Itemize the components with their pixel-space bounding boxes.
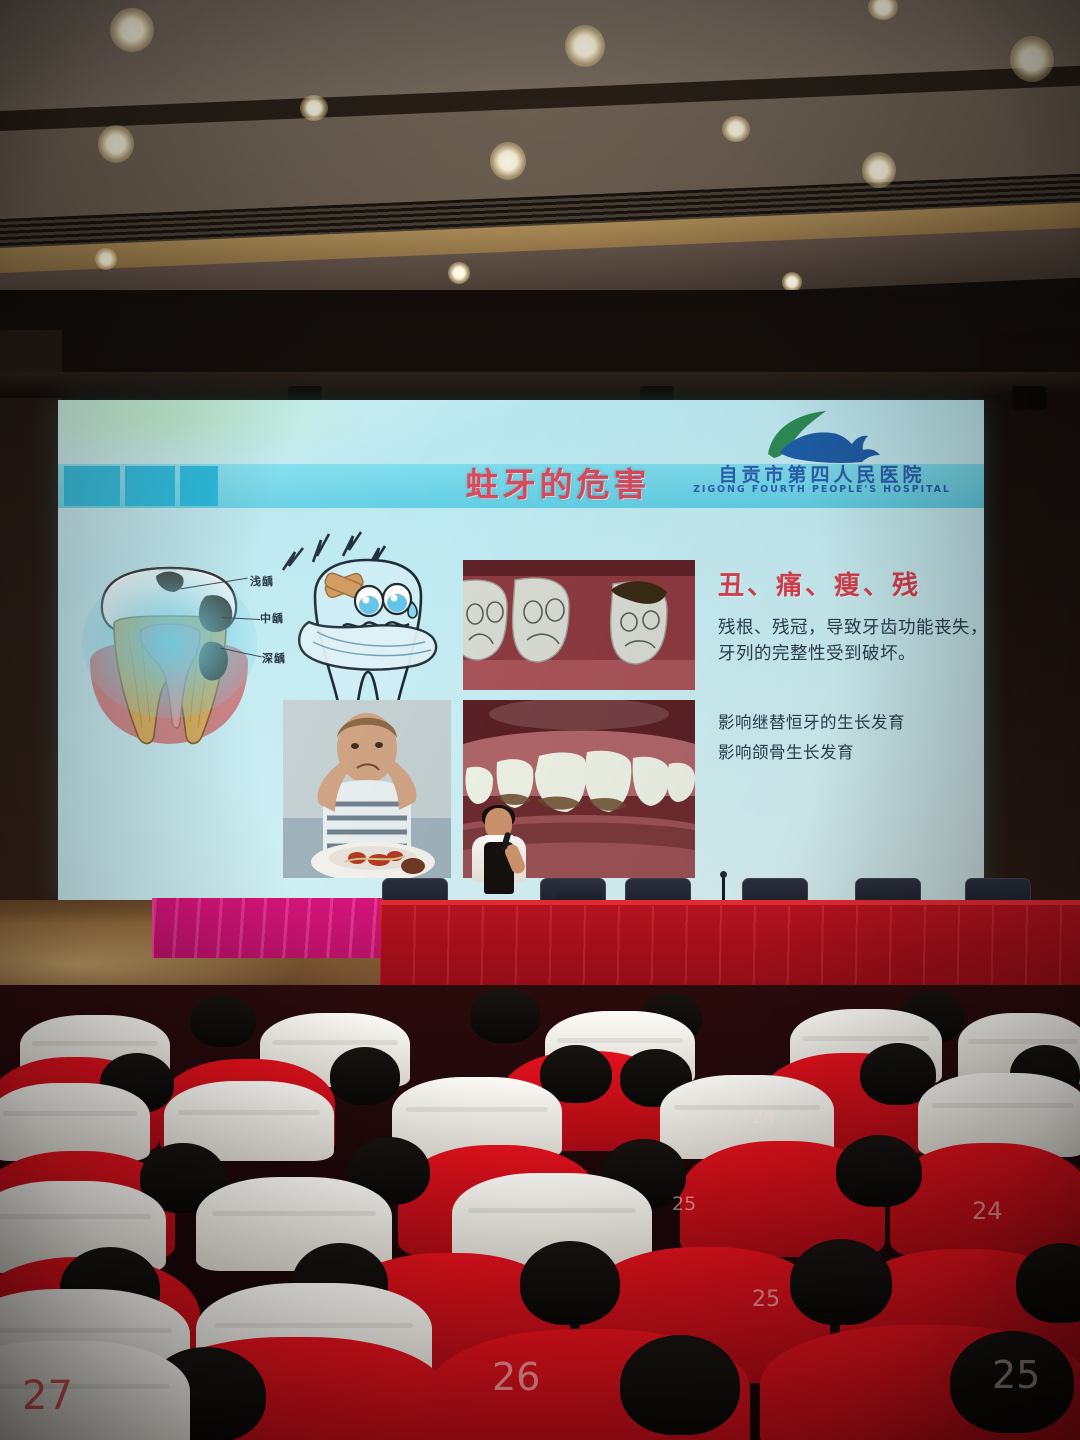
downlight-icon	[98, 125, 134, 163]
projector-glow	[58, 400, 378, 470]
slide-text-column: 丑、痛、瘦、残 残根、残冠，导致牙齿功能丧失，牙列的完整性受到破坏。 影响继替恒…	[718, 565, 984, 769]
seat-number: 27	[22, 1373, 73, 1419]
downlight-icon	[300, 95, 328, 121]
seat-number: 25	[992, 1353, 1040, 1397]
audience-head	[470, 989, 540, 1043]
title-accent-block-3	[180, 466, 218, 506]
audience-head	[520, 1241, 620, 1325]
downlight-icon	[490, 142, 526, 180]
auditorium-scene: 蛀牙的危害 自贡市第四人民医院 ZIGONG FOURTH PEOPLE'S H…	[0, 0, 1080, 1440]
downlight-icon	[782, 272, 802, 292]
downlight-icon	[862, 152, 896, 188]
photo-teeth-model-sad-faces	[463, 560, 695, 690]
label-shallow-caries: 浅龋	[250, 573, 274, 589]
audience-seating: 24 25 24 25 27 26	[0, 985, 1080, 1440]
seat-number: 24	[752, 1107, 775, 1128]
title-accent-block-1	[64, 466, 120, 506]
text-headline: 丑、痛、瘦、残	[718, 565, 984, 602]
downlight-icon	[565, 25, 605, 67]
audience-head	[190, 995, 256, 1047]
text-bullets: 影响继替恒牙的生长发育 影响颌骨生长发育	[718, 708, 984, 769]
child-photo-svg	[283, 700, 451, 878]
screen-mount-rail	[0, 372, 1080, 398]
audience-head	[790, 1239, 892, 1325]
hospital-logo-mark	[676, 408, 966, 464]
audience-head	[836, 1135, 922, 1207]
hospital-logo: 自贡市第四人民医院 ZIGONG FOURTH PEOPLE'S HOSPITA…	[676, 408, 966, 504]
title-accent-block-2	[125, 466, 175, 506]
seat-number: 26	[492, 1355, 540, 1399]
audience-head	[620, 1335, 740, 1435]
downlight-icon	[448, 262, 470, 284]
seat-cover	[0, 1083, 150, 1161]
hospital-name-en: ZIGONG FOURTH PEOPLE'S HOSPITAL	[682, 484, 962, 495]
downlight-icon	[95, 248, 117, 270]
seat-number: 25	[672, 1193, 696, 1215]
downlight-icon	[1010, 36, 1054, 82]
screen-clip	[1012, 386, 1046, 410]
seat-number: 24	[972, 1197, 1003, 1225]
downlight-icon	[110, 8, 154, 52]
audience-head	[330, 1047, 400, 1105]
diagram-halo	[82, 568, 257, 718]
photo-unhappy-child	[283, 700, 451, 878]
presenter-speaker	[470, 808, 528, 912]
text-bullet-2: 影响颌骨生长发育	[718, 738, 984, 769]
stage-front-skirt-panel	[152, 898, 387, 958]
text-bullet-1: 影响继替恒牙的生长发育	[718, 708, 984, 739]
hospital-name-cn: 自贡市第四人民医院	[682, 460, 962, 487]
ceiling	[0, 0, 1080, 300]
text-paragraph: 残根、残冠，导致牙齿功能丧失，牙列的完整性受到破坏。	[718, 615, 984, 668]
seat-number: 25	[752, 1287, 780, 1312]
wall-left-column	[0, 330, 62, 910]
teeth-model-svg	[463, 560, 695, 690]
downlight-icon	[722, 116, 750, 142]
wall-right-column	[980, 330, 1080, 910]
